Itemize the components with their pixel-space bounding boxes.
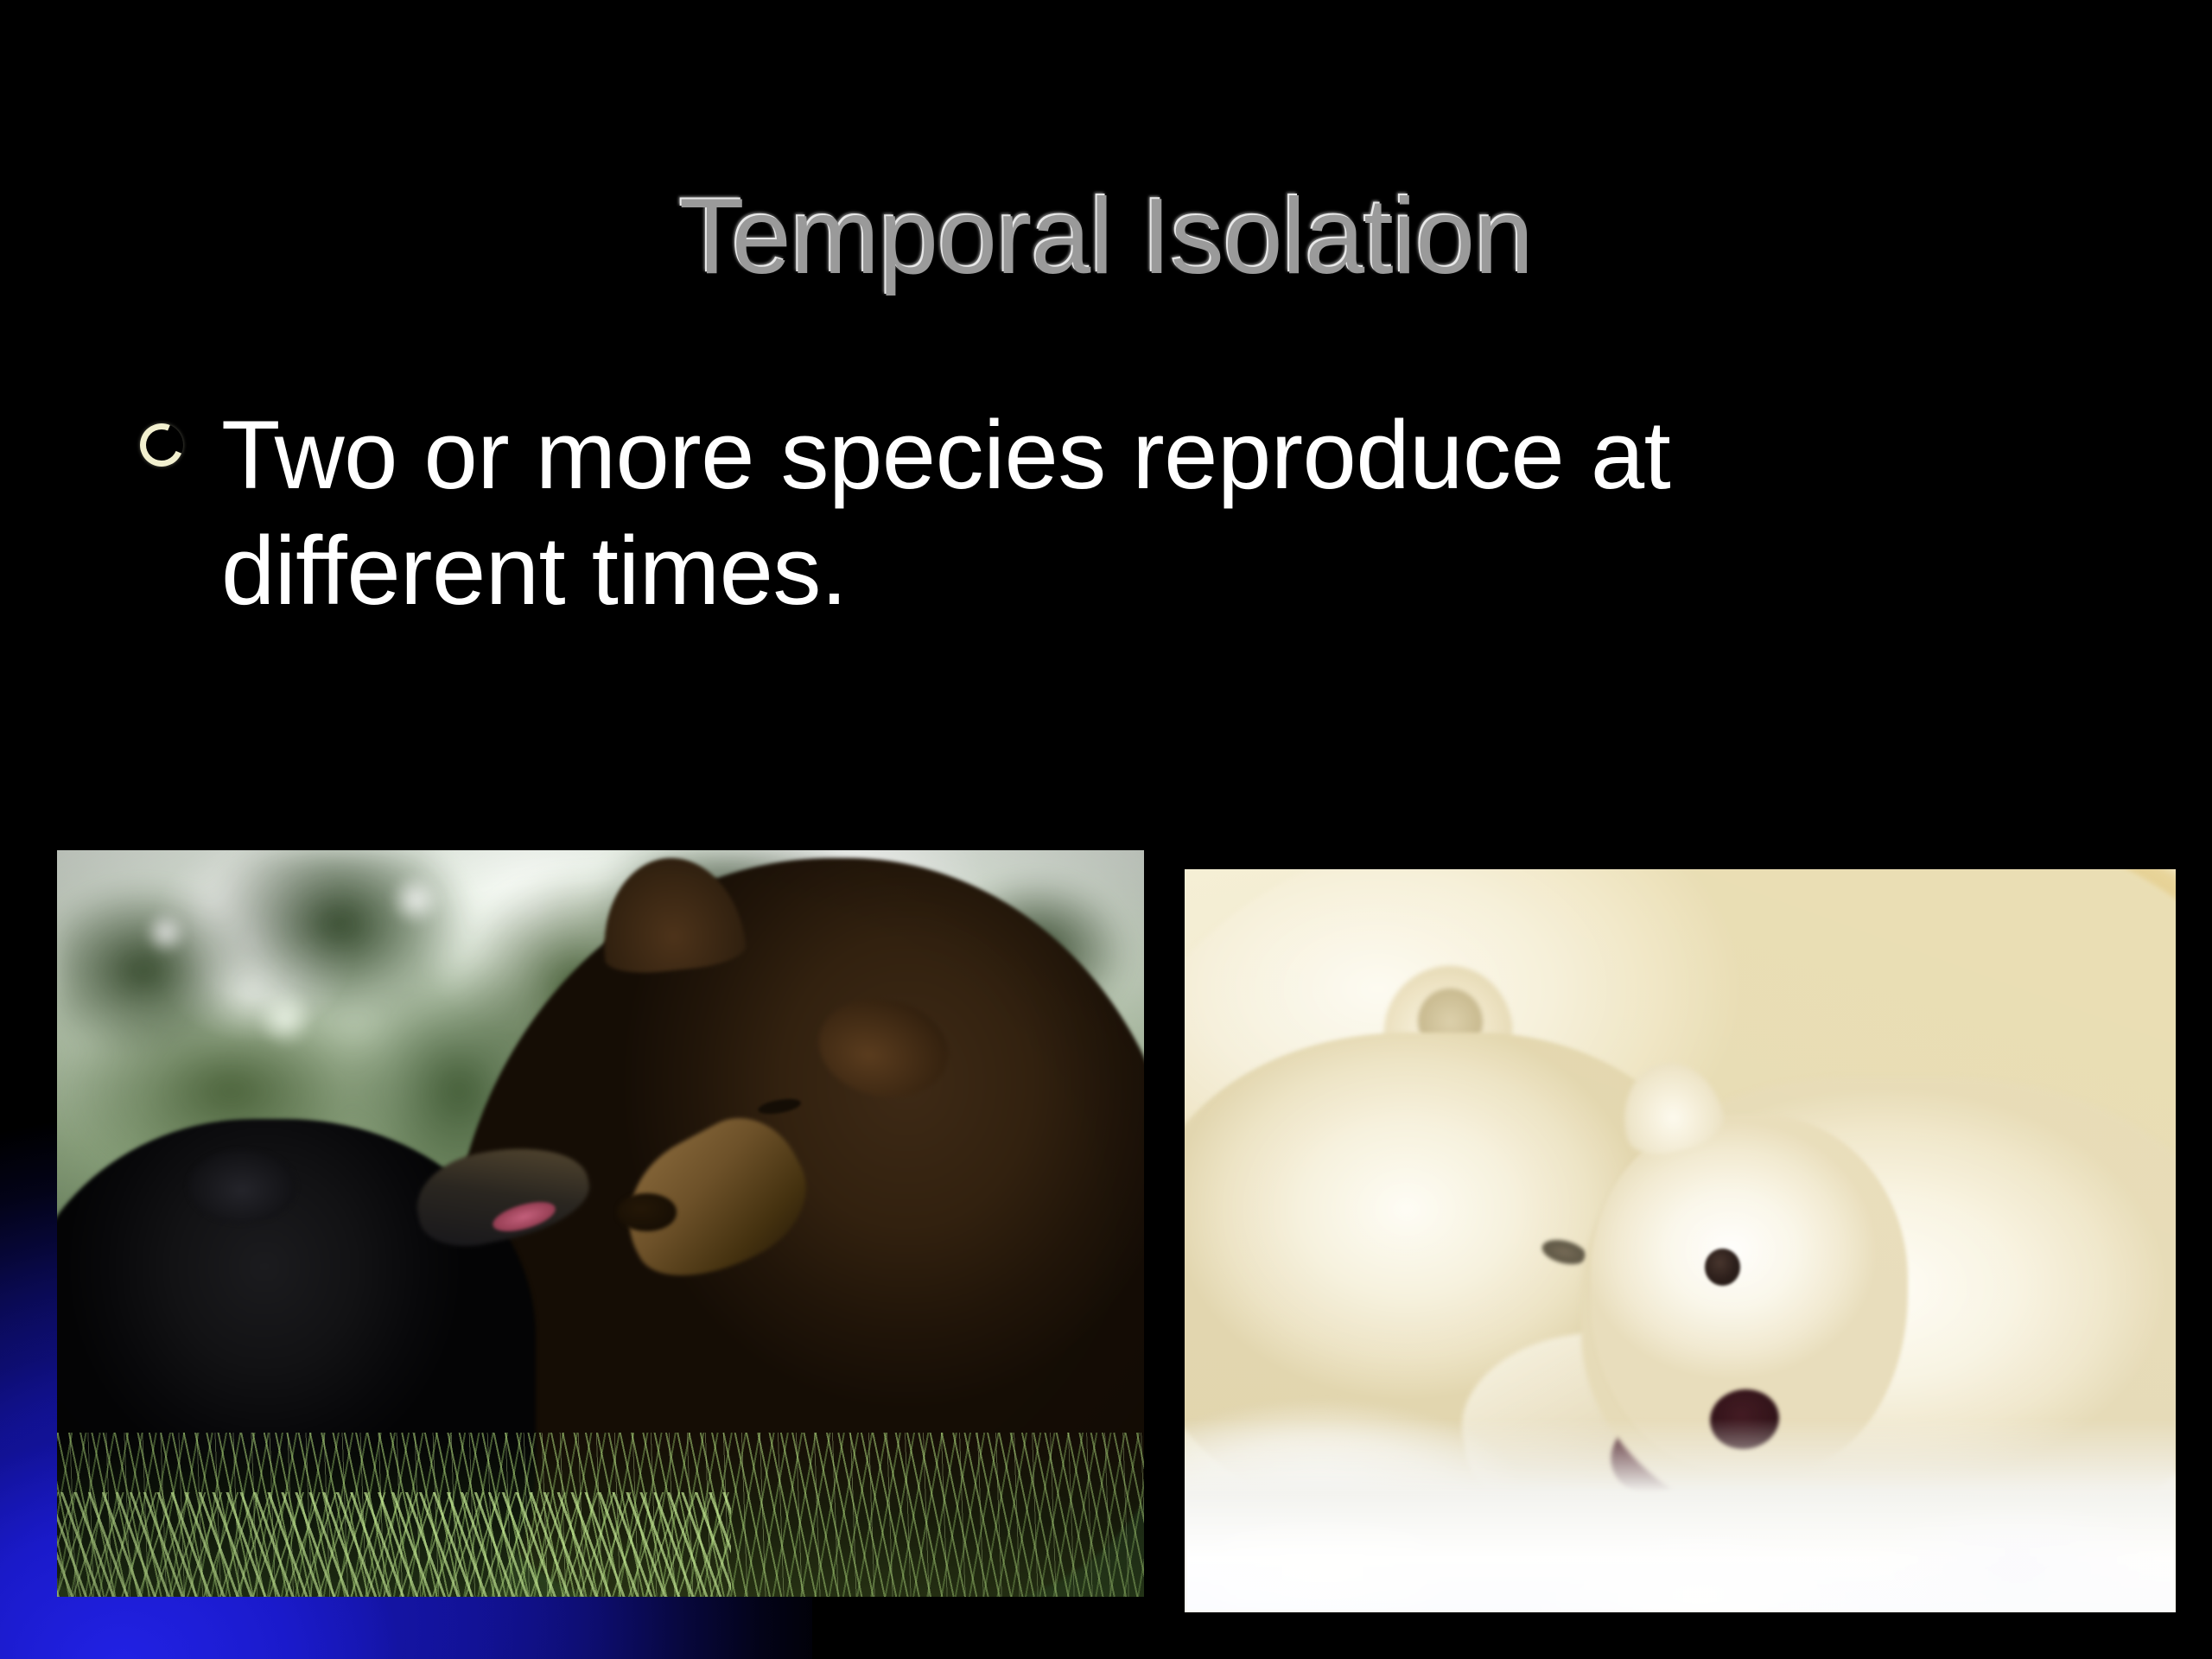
- body-content: Two or more species reproduce at differe…: [128, 397, 1856, 630]
- polar-bear-mother-and-cub-photo: [1185, 869, 2176, 1612]
- page-title: Temporal Isolation: [0, 182, 2212, 291]
- list-item: Two or more species reproduce at differe…: [128, 397, 1856, 630]
- slide-canvas: Temporal Isolation Two or more species r…: [0, 0, 2212, 1659]
- bullet-text: Two or more species reproduce at differe…: [221, 397, 1837, 630]
- black-bear-cub-and-brown-bear-photo: [57, 850, 1144, 1597]
- warm-light-overlay: [1185, 869, 2176, 1612]
- photo-scene-snow: [1185, 869, 2176, 1612]
- crescent-ring-bullet-icon: [133, 416, 189, 473]
- photo-vignette: [57, 850, 1144, 1597]
- photo-scene-forest: [57, 850, 1144, 1597]
